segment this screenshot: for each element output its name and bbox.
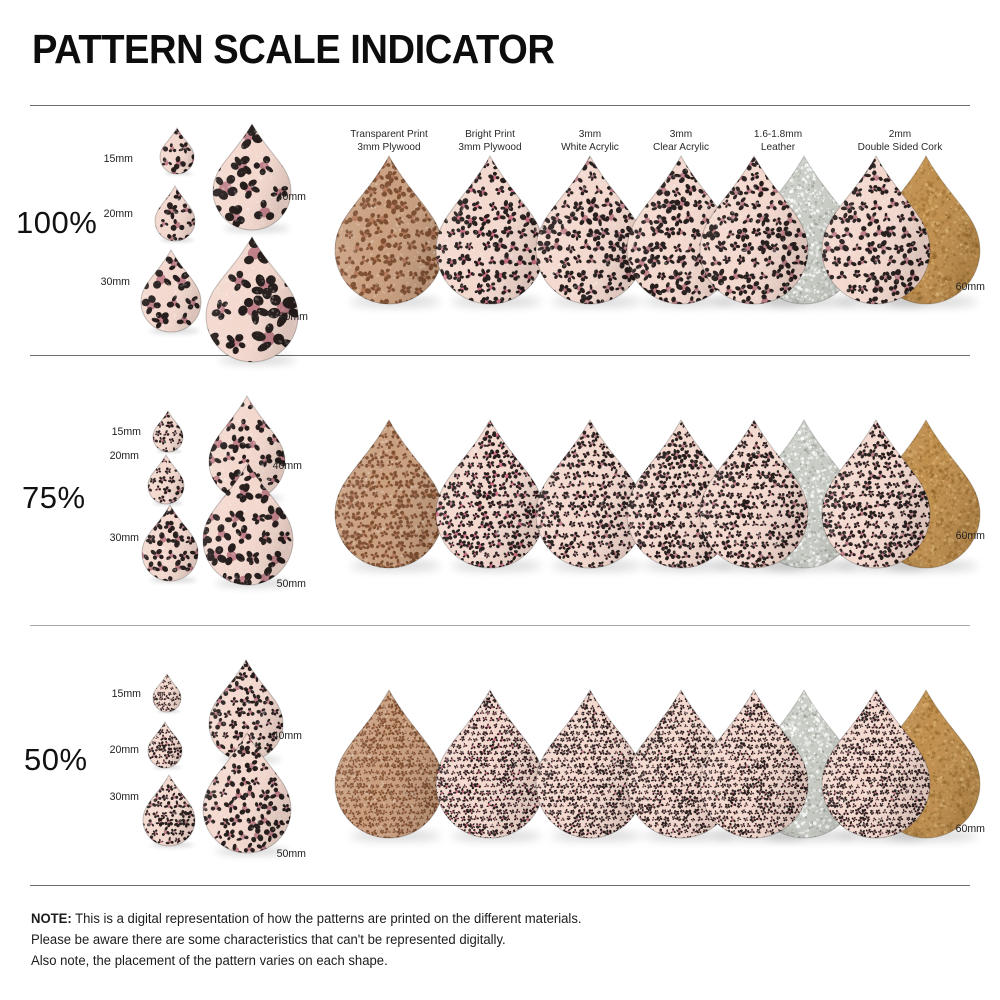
page-title: PATTERN SCALE INDICATOR	[32, 26, 554, 73]
note-label: NOTE:	[31, 911, 72, 926]
size-label-15mm: 15mm	[112, 688, 141, 700]
material-drop-white-acrylic	[536, 156, 644, 313]
size-label-40mm: 40mm	[273, 730, 302, 742]
material-sample-transparent-print-plywood	[335, 690, 443, 850]
size-label-30mm: 30mm	[110, 532, 139, 544]
material-drop-transparent-print-plywood	[335, 690, 443, 847]
material-drop-bright-print-plywood	[436, 690, 544, 847]
size-label-50mm: 50mm	[277, 848, 306, 860]
cork-printed-front-drop	[822, 156, 930, 313]
pattern-scale-indicator-page: PATTERN SCALE INDICATOR Transparent Prin…	[0, 0, 1000, 1000]
size-sample-drop-40mm	[209, 660, 283, 767]
size-sample-drop-15mm	[153, 674, 181, 718]
material-sample-bright-print-plywood	[436, 690, 544, 850]
size-sample-drop-50mm	[203, 733, 291, 860]
material-sample-clear-acrylic	[627, 690, 735, 850]
material-drop-white-acrylic	[536, 420, 644, 577]
size-sample-drop-40mm	[213, 124, 291, 236]
material-drop-clear-acrylic	[627, 156, 735, 313]
material-sample-double-sided-cork	[822, 690, 995, 850]
material-drop-bright-print-plywood	[436, 156, 544, 313]
material-sample-clear-acrylic	[627, 156, 735, 316]
material-drop-transparent-print-plywood	[335, 156, 443, 313]
material-sample-transparent-print-plywood	[335, 156, 443, 316]
material-sample-white-acrylic	[536, 690, 644, 850]
cork-back-drop	[872, 420, 980, 577]
cork-back-drop	[872, 156, 980, 313]
size-label-40mm: 40mm	[273, 460, 302, 472]
size-sample-drop-30mm	[141, 250, 201, 338]
scale-percent-label: 50%	[24, 742, 88, 778]
size-label-20mm: 20mm	[104, 208, 133, 220]
divider-bottom	[30, 885, 970, 886]
scale-percent-label: 100%	[16, 205, 97, 241]
size-label-30mm: 30mm	[110, 791, 139, 803]
material-drop-bright-print-plywood	[436, 420, 544, 577]
material-column-header-double-sided-cork: 2mmDouble Sided Cork	[833, 128, 967, 153]
material-sample-double-sided-cork	[822, 420, 995, 580]
material-sample-bright-print-plywood	[436, 420, 544, 580]
material-header-line1: 1.6-1.8mm	[711, 128, 845, 141]
material-size-label-60mm: 60mm	[956, 281, 985, 293]
material-drop-transparent-print-plywood	[335, 420, 443, 577]
cork-printed-front-drop	[822, 420, 930, 577]
cork-back-drop	[872, 690, 980, 847]
size-label-50mm: 50mm	[279, 311, 308, 323]
size-label-20mm: 20mm	[110, 744, 139, 756]
divider-row2-row3	[30, 625, 970, 626]
size-label-15mm: 15mm	[112, 426, 141, 438]
material-sample-transparent-print-plywood	[335, 420, 443, 580]
size-sample-drop-20mm	[155, 186, 195, 247]
material-size-label-60mm: 60mm	[956, 823, 985, 835]
footer-note: NOTE: This is a digital representation o…	[31, 908, 582, 971]
note-line-1: NOTE: This is a digital representation o…	[31, 908, 582, 929]
size-sample-drop-40mm	[209, 396, 285, 506]
material-sample-white-acrylic	[536, 156, 644, 316]
material-sample-white-acrylic	[536, 420, 644, 580]
size-sample-drop-30mm	[143, 775, 195, 852]
note-line-1-text: This is a digital representation of how …	[72, 911, 582, 926]
material-drop-white-acrylic	[536, 690, 644, 847]
size-sample-drop-15mm	[153, 411, 183, 458]
size-sample-drop-20mm	[148, 455, 184, 510]
material-sample-leather	[700, 156, 873, 316]
material-sample-leather	[700, 690, 873, 850]
size-sample-drop-50mm	[206, 237, 298, 370]
material-header-line2: Double Sided Cork	[833, 141, 967, 154]
cork-printed-front-drop	[822, 690, 930, 847]
material-header-line2: Leather	[711, 141, 845, 154]
note-line-3: Also note, the placement of the pattern …	[31, 950, 582, 971]
leather-printed-front-drop	[700, 420, 808, 577]
leather-suede-back-drop	[750, 420, 858, 577]
material-column-headers: Transparent Print3mm PlywoodBright Print…	[330, 128, 990, 160]
leather-suede-back-drop	[750, 156, 858, 313]
size-sample-drop-30mm	[142, 505, 198, 587]
scale-percent-label: 75%	[22, 480, 86, 516]
material-header-line1: 2mm	[833, 128, 967, 141]
size-label-30mm: 30mm	[101, 276, 130, 288]
material-drop-clear-acrylic	[627, 690, 735, 847]
leather-printed-front-drop	[700, 690, 808, 847]
material-drop-clear-acrylic	[627, 420, 735, 577]
leather-printed-front-drop	[700, 156, 808, 313]
divider-row1-row2	[30, 355, 970, 356]
size-label-20mm: 20mm	[110, 450, 139, 462]
size-sample-drop-20mm	[148, 722, 182, 774]
material-sample-bright-print-plywood	[436, 156, 544, 316]
material-sample-leather	[700, 420, 873, 580]
material-column-header-leather: 1.6-1.8mmLeather	[711, 128, 845, 153]
leather-suede-back-drop	[750, 690, 858, 847]
size-sample-drop-50mm	[203, 463, 293, 592]
material-sample-clear-acrylic	[627, 420, 735, 580]
size-label-40mm: 40mm	[277, 191, 306, 203]
size-label-50mm: 50mm	[277, 578, 306, 590]
note-line-2: Please be aware there are some character…	[31, 929, 582, 950]
material-sample-double-sided-cork	[822, 156, 995, 316]
divider-top	[30, 105, 970, 106]
material-size-label-60mm: 60mm	[956, 530, 985, 542]
size-sample-drop-15mm	[160, 128, 194, 180]
size-label-15mm: 15mm	[104, 153, 133, 165]
